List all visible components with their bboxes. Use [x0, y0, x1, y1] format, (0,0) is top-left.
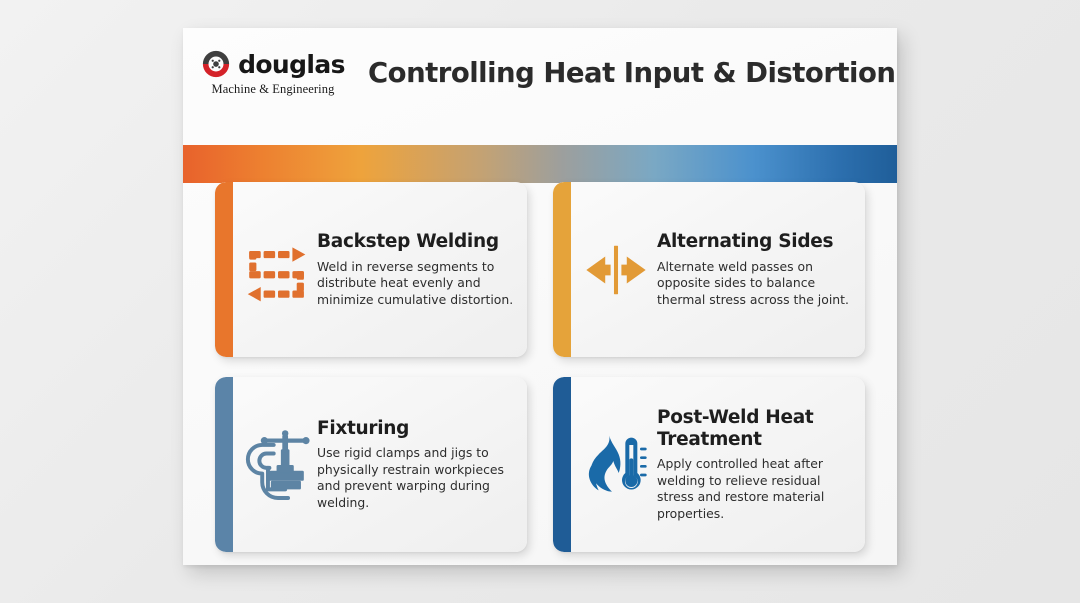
- card-title: Post-Weld Heat Treatment: [657, 407, 853, 450]
- backstep-dashed-arrows-icon: [239, 235, 317, 305]
- c-clamp-icon: [239, 429, 317, 501]
- cards-grid: Backstep Welding Weld in reverse segment…: [215, 182, 865, 552]
- card-title: Alternating Sides: [657, 231, 853, 253]
- card-accent-bar: [215, 377, 233, 552]
- card-accent-bar: [553, 377, 571, 552]
- infographic-panel: douglas Machine & Engineering Controllin…: [183, 28, 897, 565]
- card-description: Use rigid clamps and jigs to physically …: [317, 445, 515, 511]
- card-body: Fixturing Use rigid clamps and jigs to p…: [233, 377, 527, 552]
- card-text: Backstep Welding Weld in reverse segment…: [317, 231, 517, 308]
- card-text: Post-Weld Heat Treatment Apply controlle…: [655, 407, 855, 522]
- page-title: Controlling Heat Input & Distortion: [368, 57, 895, 89]
- card-accent-bar: [215, 182, 233, 357]
- left-right-arrows-icon: [577, 244, 655, 296]
- logo-wordmark: douglas: [238, 52, 345, 77]
- card-fixturing[interactable]: Fixturing Use rigid clamps and jigs to p…: [215, 377, 527, 552]
- card-description: Apply controlled heat after welding to r…: [657, 456, 853, 522]
- card-post-weld-heat-treatment[interactable]: Post-Weld Heat Treatment Apply controlle…: [553, 377, 865, 552]
- card-body: Alternating Sides Alternate weld passes …: [571, 182, 865, 357]
- logo-row: douglas: [201, 49, 345, 79]
- card-title: Fixturing: [317, 418, 515, 440]
- flame-thermometer-icon: [577, 434, 655, 496]
- card-body: Post-Weld Heat Treatment Apply controlle…: [571, 377, 865, 552]
- card-text: Alternating Sides Alternate weld passes …: [655, 231, 855, 308]
- card-accent-bar: [553, 182, 571, 357]
- target-crosshair-logo-icon: [201, 49, 231, 79]
- card-title: Backstep Welding: [317, 231, 515, 253]
- card-description: Weld in reverse segments to distribute h…: [317, 259, 515, 309]
- company-logo: douglas Machine & Engineering: [211, 49, 335, 97]
- card-alternating-sides[interactable]: Alternating Sides Alternate weld passes …: [553, 182, 865, 357]
- card-backstep-welding[interactable]: Backstep Welding Weld in reverse segment…: [215, 182, 527, 357]
- header: douglas Machine & Engineering Controllin…: [183, 28, 897, 118]
- logo-tagline: Machine & Engineering: [212, 82, 335, 97]
- gradient-rule: [183, 145, 897, 183]
- card-description: Alternate weld passes on opposite sides …: [657, 259, 853, 309]
- card-text: Fixturing Use rigid clamps and jigs to p…: [317, 418, 517, 512]
- card-body: Backstep Welding Weld in reverse segment…: [233, 182, 527, 357]
